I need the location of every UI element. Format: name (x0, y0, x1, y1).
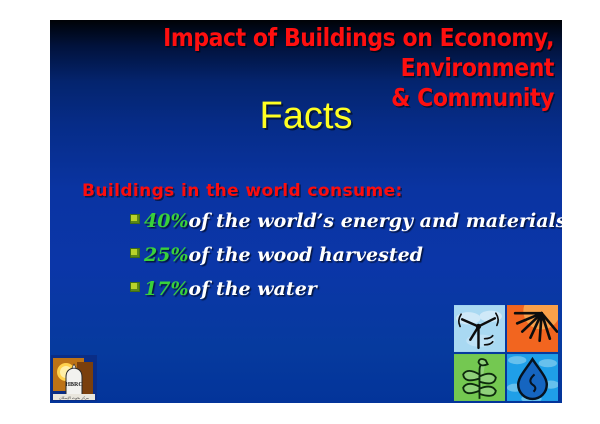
svg-text:HBRC: HBRC (65, 382, 82, 388)
sustainability-icon-grid (454, 305, 558, 401)
bullet-percent: 40% (144, 210, 189, 232)
square-bullet-icon (130, 214, 140, 224)
sun-icon (507, 305, 558, 352)
bullet-label: of the water (189, 278, 317, 300)
hbrc-logo: HBRC مركز بحوث الإسكان (51, 355, 97, 401)
square-bullet-icon (130, 282, 140, 292)
slide-canvas: Impact of Buildings on Economy, Environm… (0, 0, 600, 424)
wind-turbine-icon (454, 305, 505, 352)
plant-leaf-icon (454, 354, 505, 401)
bullet-percent: 25% (144, 244, 189, 266)
facts-bullet-list: 40% of the world’s energy and materials … (130, 210, 560, 312)
square-bullet-icon (130, 248, 140, 258)
bullet-percent: 17% (144, 278, 189, 300)
list-item: 25% of the wood harvested (130, 244, 560, 278)
bullet-label: of the world’s energy and materials (189, 210, 563, 232)
page-title: Facts (50, 94, 562, 138)
list-item: 40% of the world’s energy and materials (130, 210, 560, 244)
subheading-buildings-consume: Buildings in the world consume: (82, 180, 403, 202)
water-drop-icon (507, 354, 558, 401)
bullet-label: of the wood harvested (189, 244, 423, 266)
presentation-slide: Impact of Buildings on Economy, Environm… (50, 20, 562, 403)
